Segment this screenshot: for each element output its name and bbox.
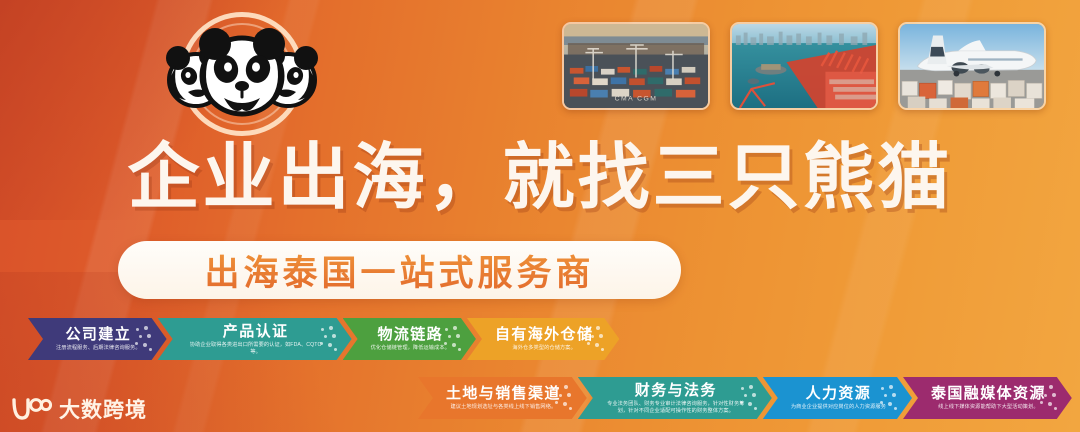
- hundred-mark-icon: [10, 396, 52, 422]
- chip-dots-decoration: [554, 385, 574, 411]
- three-panda-icon: [152, 8, 332, 143]
- chip-dots-decoration: [1039, 385, 1059, 411]
- chip-dots-decoration: [134, 326, 154, 352]
- service-chip-finance-legal[interactable]: 财务与法务 专业法务团队、财务专业审计法律咨询服务，针对性财务筹划，针对不同企业…: [578, 377, 772, 419]
- chip-title: 自有海外仓储: [495, 326, 593, 343]
- service-chip-land-sales-channel[interactable]: 土地与销售渠道 建议土地规划选址与各类线上线下销售网络。: [418, 377, 587, 419]
- chip-title: 人力资源: [806, 385, 872, 402]
- service-chip-product-certification[interactable]: 产品认证 协助企业取得各类进出口所需要的认证，如FDA、CQTC等。: [158, 318, 352, 360]
- chip-dots-decoration: [443, 326, 463, 352]
- chip-description: 注册流程服务、后期法律咨询服务。: [56, 345, 141, 351]
- chip-title: 产品认证: [223, 323, 289, 340]
- chip-title: 公司建立: [66, 326, 132, 343]
- banner-headline: 企业出海，就找三只熊猫: [0, 140, 1080, 216]
- service-chip-row-1: 公司建立 注册流程服务、后期法律咨询服务。 产品认证 协助企业取得各类进出口所需…: [28, 318, 610, 360]
- chip-description: 优化仓储链管理，降低运输成本。: [371, 345, 450, 351]
- service-chip-company-setup[interactable]: 公司建立 注册流程服务、后期法律咨询服务。: [28, 318, 167, 360]
- service-chip-logistics[interactable]: 物流链路 优化仓储链管理，降低运输成本。: [343, 318, 476, 360]
- brand-watermark: 大数跨境: [10, 394, 147, 424]
- photo-harbor-cranes: [730, 22, 878, 110]
- service-chip-row-2: 土地与销售渠道 建议土地规划选址与各类线上线下销售网络。 财务与法务 专业法务团…: [418, 377, 1063, 419]
- photo-container-port-aerial: CMA CGM: [562, 22, 710, 110]
- panda-logo: [152, 8, 332, 143]
- chip-dots-decoration: [879, 385, 899, 411]
- chip-description: 协助企业取得各类进出口所需要的认证，如FDA、CQTC等。: [186, 342, 326, 355]
- brand-name: 大数跨境: [59, 394, 147, 424]
- subtitle-pill: 出海泰国一站式服务商: [118, 241, 681, 299]
- service-chip-overseas-warehouse[interactable]: 自有海外仓储 海外仓多类型的仓储方案。: [467, 318, 619, 360]
- photo-thumbnail-strip: CMA CGM: [562, 22, 1046, 110]
- service-chip-thailand-media[interactable]: 泰国融媒体资源 线上线下媒体资源能帮助下大型活动策划。: [903, 377, 1072, 419]
- svg-text:CMA CGM: CMA CGM: [615, 95, 658, 102]
- promotional-banner: CMA CGM: [0, 0, 1080, 432]
- subtitle-text: 出海泰国一站式服务商: [204, 245, 594, 296]
- service-chip-human-resources[interactable]: 人力资源 为商业企业提供对应岗位的人力资源服务: [763, 377, 912, 419]
- chip-description: 海外仓多类型的仓储方案。: [512, 345, 575, 351]
- chip-title: 物流链路: [377, 326, 443, 343]
- chip-dots-decoration: [586, 326, 606, 352]
- chip-description: 为商业企业提供对应岗位的人力资源服务: [791, 404, 886, 410]
- chip-title: 土地与销售渠道: [446, 385, 561, 402]
- chip-dots-decoration: [739, 385, 759, 411]
- chip-description: 建议土地规划选址与各类线上线下销售网络。: [451, 404, 557, 410]
- chip-title: 泰国融媒体资源: [931, 385, 1046, 402]
- photo-cargo-aircraft: [898, 22, 1046, 110]
- chip-description: 专业法务团队、财务专业审计法律咨询服务，针对性财务筹划，针对不同企业适配可操作性…: [606, 401, 746, 414]
- chip-title: 财务与法务: [635, 382, 717, 399]
- chip-dots-decoration: [319, 326, 339, 352]
- chip-description: 线上线下媒体资源能帮助下大型活动策划。: [938, 404, 1038, 410]
